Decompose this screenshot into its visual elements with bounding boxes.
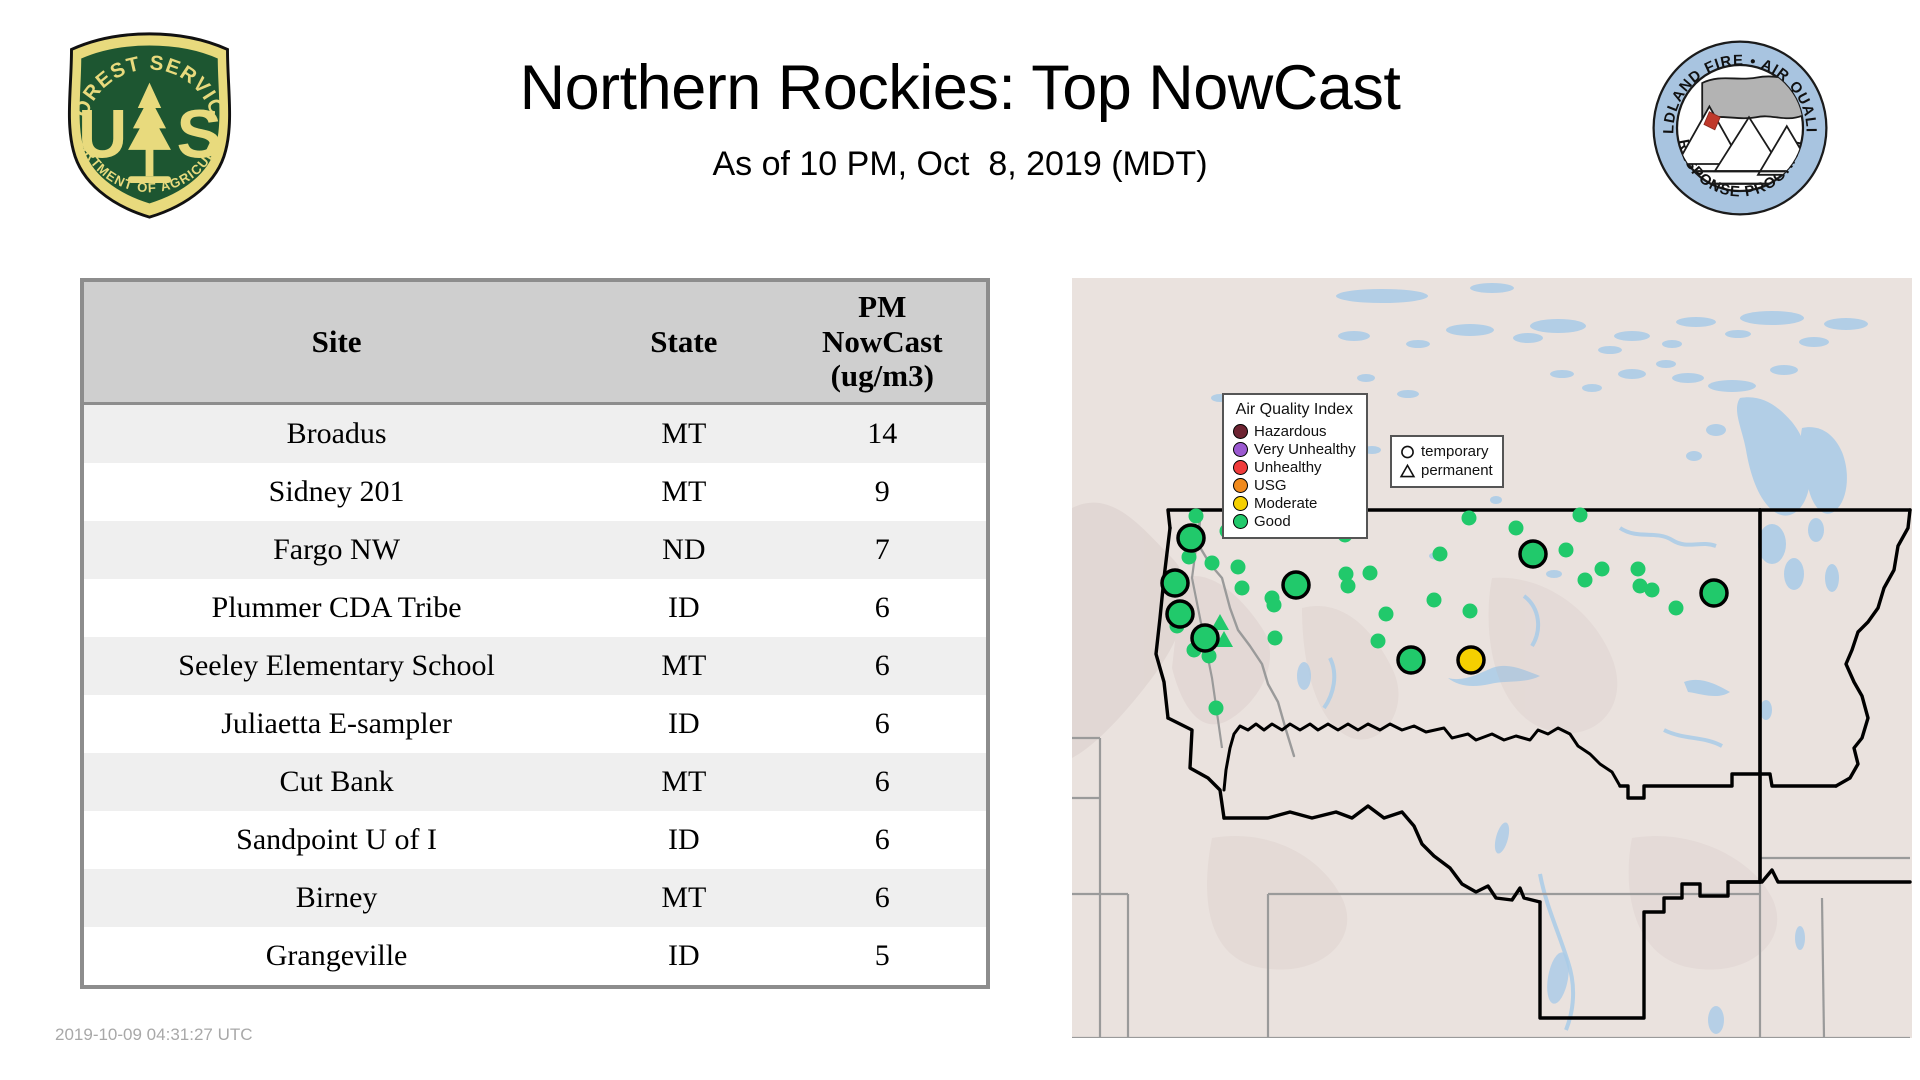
- aqi-legend-label: Unhealthy: [1254, 459, 1322, 476]
- nowcast-table: Site State PM NowCast (ug/m3) BroadusMT1…: [80, 278, 990, 989]
- page-title: Northern Rockies: Top NowCast: [300, 55, 1620, 121]
- aqi-legend-rows: HazardousVery UnhealthyUnhealthyUSGModer…: [1233, 422, 1356, 530]
- site-cell: Sandpoint U of I: [84, 811, 589, 869]
- monitor-marker-small[interactable]: [1231, 560, 1246, 575]
- monitor-marker-small[interactable]: [1595, 562, 1610, 577]
- monitor-marker-small[interactable]: [1573, 508, 1588, 523]
- top-site-marker[interactable]: [1162, 570, 1188, 596]
- monitor-marker-small[interactable]: [1559, 543, 1574, 558]
- monitor-marker-small[interactable]: [1379, 607, 1394, 622]
- aqi-legend-swatch-icon: [1233, 514, 1248, 529]
- symbol-legend: temporary permanent: [1390, 435, 1504, 488]
- monitor-marker-small[interactable]: [1463, 604, 1478, 619]
- table-row[interactable]: Sidney 201MT9: [84, 463, 986, 521]
- top-site-marker[interactable]: [1178, 525, 1204, 551]
- table-row[interactable]: BirneyMT6: [84, 869, 986, 927]
- state-cell: ND: [589, 521, 778, 579]
- top-site-marker[interactable]: [1283, 572, 1309, 598]
- aqi-legend-row: Unhealthy: [1233, 458, 1356, 476]
- aqi-legend-row: Very Unhealthy: [1233, 440, 1356, 458]
- table-row[interactable]: Seeley Elementary SchoolMT6: [84, 637, 986, 695]
- page-subtitle: As of 10 PM, Oct 8, 2019 (MDT): [300, 145, 1620, 184]
- column-header-state: State: [589, 282, 778, 404]
- aqi-legend-label: Hazardous: [1254, 423, 1327, 440]
- monitor-marker-small[interactable]: [1189, 509, 1204, 524]
- svg-text:S: S: [176, 97, 222, 173]
- monitor-marker-small[interactable]: [1669, 601, 1684, 616]
- monitor-marker-small[interactable]: [1363, 566, 1378, 581]
- site-cell: Plummer CDA Tribe: [84, 579, 589, 637]
- top-site-marker[interactable]: [1701, 580, 1727, 606]
- monitor-marker-small[interactable]: [1427, 593, 1442, 608]
- monitor-marker-small[interactable]: [1645, 583, 1660, 598]
- table-row[interactable]: Plummer CDA TribeID6: [84, 579, 986, 637]
- aqi-legend-swatch-icon: [1233, 442, 1248, 457]
- aqi-legend-label: Good: [1254, 513, 1291, 530]
- wildland-fire-air-quality-logo: WILDLAND FIRE • AIR QUALITY RESPONSE PRO…: [1650, 38, 1830, 218]
- aqi-legend-swatch-icon: [1233, 460, 1248, 475]
- pm-cell: 9: [779, 463, 986, 521]
- pm-cell: 6: [779, 811, 986, 869]
- aqi-legend-row: Hazardous: [1233, 422, 1356, 440]
- aqi-legend-row: Moderate: [1233, 494, 1356, 512]
- column-header-state-label: State: [593, 325, 774, 360]
- pm-cell: 6: [779, 579, 986, 637]
- table-row[interactable]: BroadusMT14: [84, 404, 986, 464]
- state-cell: MT: [589, 463, 778, 521]
- symbol-legend-label-temporary: temporary: [1421, 443, 1489, 460]
- table-body: BroadusMT14Sidney 201MT9Fargo NWND7Plumm…: [84, 404, 986, 986]
- temporary-circle-icon: [1399, 444, 1416, 460]
- monitor-marker-small[interactable]: [1209, 701, 1224, 716]
- monitor-marker-small[interactable]: [1509, 521, 1524, 536]
- symbol-legend-row-temporary: temporary: [1399, 442, 1493, 461]
- site-cell: Fargo NW: [84, 521, 589, 579]
- pm-cell: 7: [779, 521, 986, 579]
- column-header-pm: PM NowCast (ug/m3): [779, 282, 986, 404]
- top-site-marker[interactable]: [1398, 647, 1424, 673]
- table-row[interactable]: Cut BankMT6: [84, 753, 986, 811]
- aqi-legend-title: Air Quality Index: [1233, 401, 1356, 419]
- generation-timestamp: 2019-10-09 04:31:27 UTC: [55, 1025, 253, 1045]
- aqi-legend-row: USG: [1233, 476, 1356, 494]
- symbol-legend-row-permanent: permanent: [1399, 461, 1493, 480]
- aqi-legend-swatch-icon: [1233, 424, 1248, 439]
- state-cell: ID: [589, 811, 778, 869]
- symbol-legend-label-permanent: permanent: [1421, 462, 1493, 479]
- table-row[interactable]: Fargo NWND7: [84, 521, 986, 579]
- table-row[interactable]: Sandpoint U of IID6: [84, 811, 986, 869]
- usfs-shield-logo: FOREST SERVICE DEPARTMENT OF AGRICULTURE…: [52, 28, 247, 223]
- pm-cell: 14: [779, 404, 986, 464]
- monitor-marker-small[interactable]: [1371, 634, 1386, 649]
- aqi-legend: Air Quality Index HazardousVery Unhealth…: [1222, 393, 1368, 539]
- svg-text:U: U: [78, 97, 127, 173]
- pm-cell: 6: [779, 695, 986, 753]
- monitor-marker-small[interactable]: [1631, 562, 1646, 577]
- column-header-site-label: Site: [88, 325, 585, 360]
- table-row[interactable]: Juliaetta E-samplerID6: [84, 695, 986, 753]
- monitor-marker-small[interactable]: [1433, 547, 1448, 562]
- site-cell: Grangeville: [84, 927, 589, 985]
- site-cell: Broadus: [84, 404, 589, 464]
- state-cell: ID: [589, 579, 778, 637]
- pm-cell: 6: [779, 637, 986, 695]
- header-band: FOREST SERVICE DEPARTMENT OF AGRICULTURE…: [0, 0, 1920, 270]
- permanent-triangle-icon: [1399, 463, 1416, 479]
- top-site-marker[interactable]: [1458, 647, 1484, 673]
- aqi-legend-swatch-icon: [1233, 478, 1248, 493]
- aqi-legend-label: Very Unhealthy: [1254, 441, 1356, 458]
- monitor-marker-small[interactable]: [1268, 631, 1283, 646]
- top-site-marker[interactable]: [1167, 601, 1193, 627]
- state-cell: ID: [589, 927, 778, 985]
- monitor-marker-small[interactable]: [1267, 598, 1282, 613]
- state-cell: MT: [589, 869, 778, 927]
- state-cell: ID: [589, 695, 778, 753]
- table-header-row: Site State PM NowCast (ug/m3): [84, 282, 986, 404]
- air-quality-map[interactable]: Air Quality Index HazardousVery Unhealth…: [1072, 278, 1912, 1038]
- aqi-legend-label: USG: [1254, 477, 1287, 494]
- map-canvas[interactable]: [1072, 278, 1912, 1038]
- title-block: Northern Rockies: Top NowCast As of 10 P…: [300, 55, 1620, 184]
- state-cell: MT: [589, 753, 778, 811]
- site-cell: Sidney 201: [84, 463, 589, 521]
- aqi-legend-label: Moderate: [1254, 495, 1317, 512]
- monitor-marker-small[interactable]: [1235, 581, 1250, 596]
- state-cell: MT: [589, 637, 778, 695]
- site-cell: Birney: [84, 869, 589, 927]
- monitor-marker-small[interactable]: [1341, 579, 1356, 594]
- column-header-site: Site: [84, 282, 589, 404]
- state-cell: MT: [589, 404, 778, 464]
- top-site-marker[interactable]: [1192, 625, 1218, 651]
- monitor-marker-small[interactable]: [1462, 511, 1477, 526]
- site-cell: Cut Bank: [84, 753, 589, 811]
- column-header-pm-label: PM NowCast (ug/m3): [783, 290, 982, 394]
- top-site-marker[interactable]: [1520, 541, 1546, 567]
- aqi-legend-swatch-icon: [1233, 496, 1248, 511]
- monitor-marker-small[interactable]: [1205, 556, 1220, 571]
- pm-cell: 6: [779, 753, 986, 811]
- table-row[interactable]: GrangevilleID5: [84, 927, 986, 985]
- pm-cell: 5: [779, 927, 986, 985]
- site-cell: Seeley Elementary School: [84, 637, 589, 695]
- monitor-marker-small[interactable]: [1578, 573, 1593, 588]
- pm-cell: 6: [779, 869, 986, 927]
- aqi-legend-row: Good: [1233, 512, 1356, 530]
- site-cell: Juliaetta E-sampler: [84, 695, 589, 753]
